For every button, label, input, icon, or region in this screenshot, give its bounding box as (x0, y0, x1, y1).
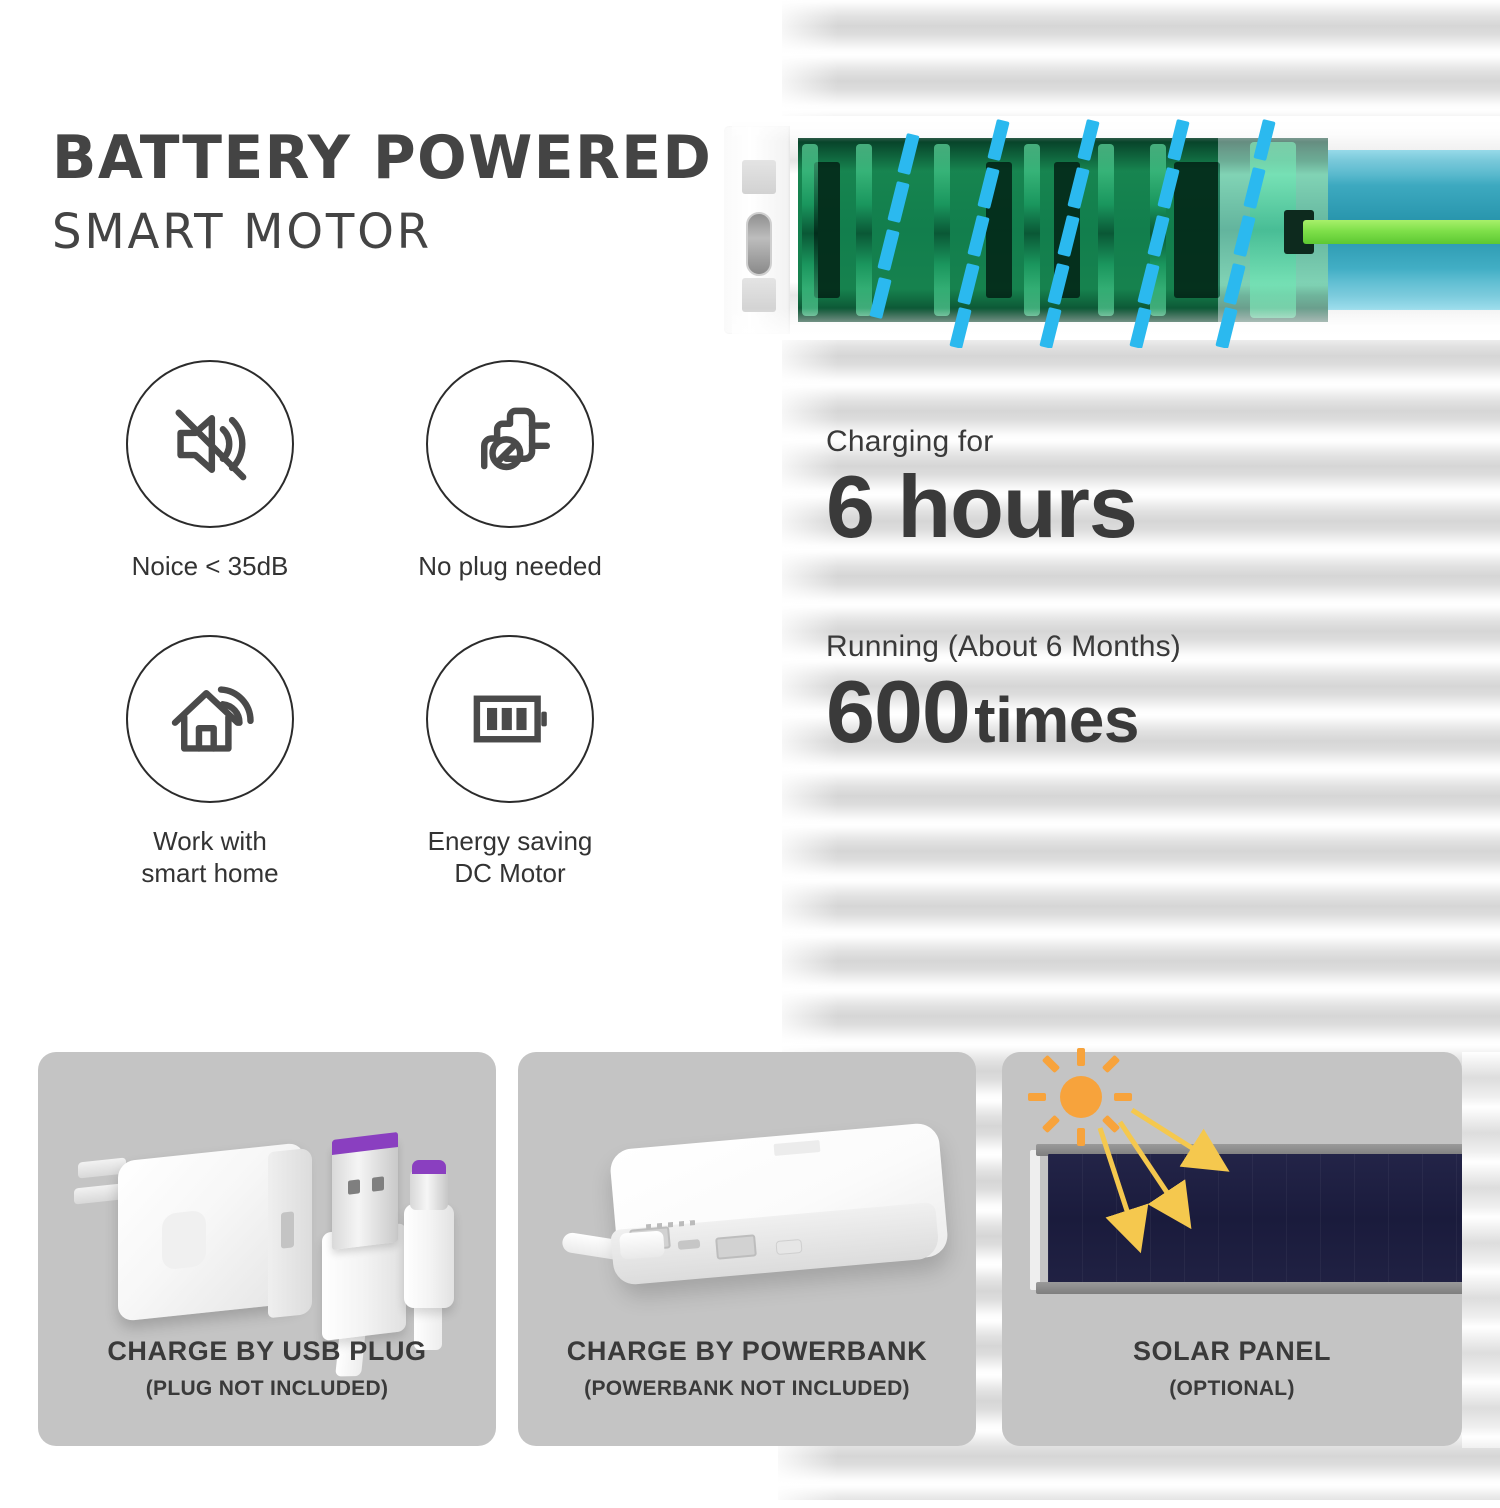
stat-value: 600 (826, 662, 970, 761)
usb-a-contact-hole (372, 1176, 384, 1191)
card-note: (POWERBANK NOT INCLUDED) (518, 1377, 976, 1401)
caption-powerbank: CHARGE BY POWERBANK (POWERBANK NOT INCLU… (518, 1336, 976, 1401)
mute-speaker-icon (164, 398, 256, 490)
usb-a-contact-hole (348, 1179, 360, 1194)
battery-icon (464, 673, 556, 765)
usb-c-port[interactable] (746, 212, 772, 276)
feature-icon-frame (126, 635, 294, 803)
card-title: CHARGE BY POWERBANK (518, 1336, 976, 1367)
feature-icon-frame (426, 635, 594, 803)
charger-usb-a-slot (281, 1211, 294, 1248)
usb-c-purple-tip (412, 1160, 446, 1174)
stat-caption: Charging for (826, 425, 1137, 459)
housing-highlight-top (732, 116, 1500, 142)
title-line-secondary: SMART MOTOR (52, 208, 731, 256)
page-title: BATTERY POWERED SMART MOTOR (52, 128, 752, 256)
gear-ring (1098, 144, 1114, 316)
stat-value-row: 600 times (826, 666, 1181, 758)
feature-dc-motor: Energy saving DC Motor (370, 635, 650, 890)
feature-icon-frame (126, 360, 294, 528)
motor-button[interactable] (742, 278, 776, 312)
caption-usb-plug: CHARGE BY USB PLUG (PLUG NOT INCLUDED) (38, 1336, 496, 1401)
blinds-bottom-white-mask (0, 1448, 760, 1508)
usb-c-connector-grip (404, 1204, 454, 1308)
powerbank-usb-port (715, 1234, 757, 1259)
powerbank-plugged-connector (619, 1230, 665, 1259)
feature-grid: Noice < 35dB No plug needed Work with sm (70, 360, 670, 890)
feature-label: Noice < 35dB (132, 550, 289, 583)
card-title: CHARGE BY USB PLUG (38, 1336, 496, 1367)
housing-highlight-bottom (732, 308, 1500, 340)
title-line-primary: BATTERY POWERED (52, 128, 731, 188)
sunlight-arrow (1132, 1110, 1200, 1153)
stat-unit: times (974, 684, 1139, 756)
card-title: SOLAR PANEL (1002, 1336, 1462, 1367)
smart-home-wifi-icon (164, 673, 256, 765)
gear-ring (1024, 144, 1040, 316)
motor-drive-shaft (1303, 220, 1500, 244)
powerbank-micro-usb-port (678, 1239, 701, 1250)
feature-label: Energy saving DC Motor (428, 825, 593, 890)
feature-icon-frame (426, 360, 594, 528)
usb-c-connector (410, 1170, 448, 1210)
gearbox-shadow (1174, 162, 1220, 298)
sunlight-arrow (1100, 1128, 1130, 1220)
powerbank-power-button[interactable] (775, 1239, 802, 1255)
stat-value: 6 hours (826, 461, 1137, 553)
sunlight-arrow (1120, 1122, 1172, 1200)
stat-charging-time: Charging for 6 hours (826, 425, 1137, 553)
blinds-right-strip (1462, 1052, 1500, 1448)
motor-button[interactable] (742, 160, 776, 194)
stat-caption: Running (About 6 Months) (826, 630, 1181, 664)
no-plug-icon (464, 398, 556, 490)
feature-label: Work with smart home (141, 825, 278, 890)
stat-running-cycles: Running (About 6 Months) 600 times (826, 630, 1181, 758)
feature-no-plug: No plug needed (370, 360, 650, 583)
card-note: (OPTIONAL) (1002, 1377, 1462, 1401)
feature-label: No plug needed (418, 550, 602, 583)
card-note: (PLUG NOT INCLUDED) (38, 1377, 496, 1401)
gear-ring (934, 144, 950, 316)
caption-solar-panel: SOLAR PANEL (OPTIONAL) (1002, 1336, 1462, 1401)
feature-smart-home: Work with smart home (70, 635, 350, 890)
gear-ring (856, 144, 872, 316)
feature-noise: Noice < 35dB (70, 360, 350, 583)
smart-motor-cutaway-illustration (724, 108, 1500, 348)
motor-end-cap (724, 126, 790, 334)
gear-ring (802, 144, 818, 316)
charger-logo-emboss (162, 1210, 206, 1271)
usb-a-connector (332, 1138, 398, 1250)
sunlight-arrows (1020, 1060, 1320, 1310)
